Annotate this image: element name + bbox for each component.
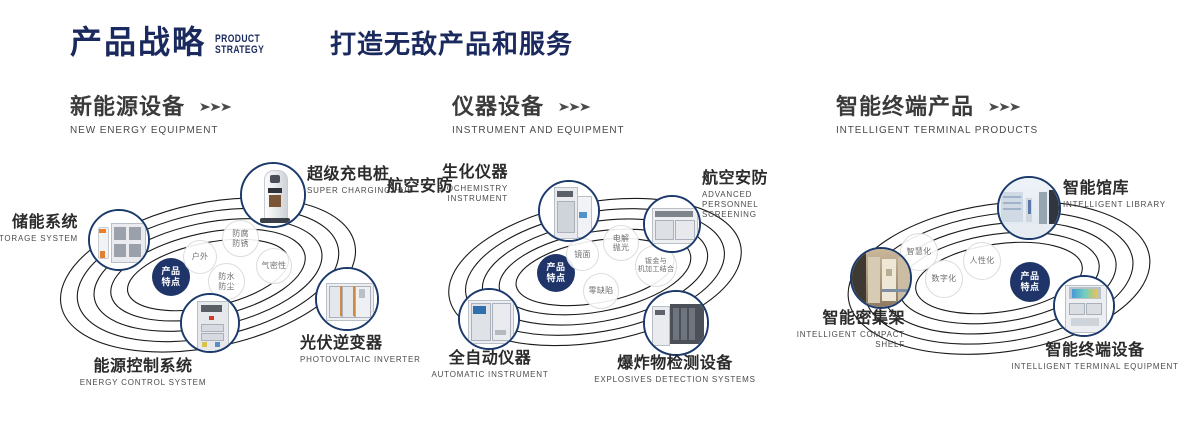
product-label-en: INTELLIGENT LIBRARY (1063, 200, 1166, 210)
product-label-en: ENERGY CONTROL SYSTEM (38, 378, 248, 388)
product-label-terminal-equipment: 智能终端设备 INTELLIGENT TERMINAL EQUIPMENT (995, 342, 1195, 372)
section-title-en: INSTRUMENT AND EQUIPMENT (452, 125, 625, 136)
feature-bubble: 数字化 (925, 260, 963, 298)
product-label-cn: 智能密集架 (765, 310, 905, 327)
product-label-cn: 航空安防 (348, 178, 453, 195)
core-bubble-line2: 特点 (1020, 282, 1039, 293)
chevron-right-icon: ➤➤➤ (198, 99, 230, 114)
feature-bubble: 人性化 (963, 242, 1001, 280)
feature-bubble-text: 防水防尘 (218, 272, 235, 291)
product-node-pv-inverter[interactable] (315, 267, 379, 331)
core-bubble-line2: 特点 (546, 273, 565, 284)
product-node-explosives-detection[interactable] (643, 290, 709, 356)
feature-bubble-text: 数字化 (932, 274, 957, 284)
product-label-aviation-security-left: 航空安防 (348, 178, 453, 195)
core-bubble-line2: 特点 (161, 277, 180, 288)
biochemistry-illustration (540, 182, 598, 240)
product-label-aviation-security: 航空安防 ADVANCED PERSONNEL SCREENING (702, 170, 802, 220)
product-label-cn: 航空安防 (702, 170, 802, 187)
product-label-explosives-detection: 爆炸物检测设备 EXPLOSIVES DETECTION SYSTEMS (575, 355, 775, 385)
pv-inverter-illustration (317, 269, 377, 329)
diagram-panel-intelligent-terminal: 智能馆库 INTELLIGENT LIBRARY 智能密集架 INTELLIGE… (795, 150, 1195, 410)
section-title-cn: 新能源设备 (70, 96, 185, 118)
section-title-cn: 仪器设备 (452, 96, 544, 118)
core-bubble-line1: 产品 (161, 266, 180, 277)
feature-bubble-text: 电解抛光 (613, 234, 630, 253)
poster-title-en: PRODUCT STRATEGY (215, 34, 309, 56)
product-label-energy-control: 能源控制系统 ENERGY CONTROL SYSTEM (38, 358, 248, 388)
section-title-new-energy: 新能源设备 ➤➤➤ NEW ENERGY EQUIPMENT (70, 96, 230, 136)
product-label-cn: 储能系统 (0, 214, 78, 231)
feature-bubble-text: 零缺陷 (589, 286, 614, 296)
product-node-intelligent-library[interactable] (997, 176, 1061, 240)
chevron-right-icon: ➤➤➤ (987, 99, 1019, 114)
feature-bubble: 电解抛光 (603, 225, 639, 261)
intelligent-library-illustration (999, 178, 1059, 238)
product-node-energy-control[interactable] (180, 293, 240, 353)
poster-canvas: 产品战略 PRODUCT STRATEGY 打造无敌产品和服务 新能源设备 ➤➤… (0, 0, 1200, 422)
energy-control-illustration (182, 295, 238, 351)
product-label-en: ADVANCED PERSONNEL SCREENING (702, 190, 802, 220)
product-label-cn: 爆炸物检测设备 (575, 355, 775, 372)
product-label-en: ENERGY STORAGE SYSTEM (0, 234, 78, 244)
feature-bubble-text: 智慧化 (907, 247, 932, 257)
feature-bubble-text: 气密性 (262, 261, 287, 271)
feature-bubble-text: 钣金与机加工结合 (638, 258, 675, 275)
poster-header: 产品战略 PRODUCT STRATEGY (70, 26, 335, 58)
energy-storage-illustration (90, 211, 148, 269)
core-bubble-line1: 产品 (546, 262, 565, 273)
poster-title-en-line2: STRATEGY (215, 45, 309, 56)
feature-bubble-text: 镜面 (574, 250, 591, 260)
poster-subtitle: 打造无敌产品和服务 (330, 31, 573, 57)
poster-title-cn: 产品战略 (70, 26, 206, 58)
section-title-en: NEW ENERGY EQUIPMENT (70, 125, 230, 136)
product-label-en: AUTOMATIC INSTRUMENT (395, 370, 585, 380)
feature-bubble: 镜面 (566, 238, 599, 271)
product-node-charging-hub[interactable] (240, 162, 306, 228)
product-node-aviation-security[interactable] (643, 195, 701, 253)
product-label-compact-shelf: 智能密集架 INTELLIGENT COMPACT SHELF (765, 310, 905, 350)
product-node-terminal-equipment[interactable] (1053, 275, 1115, 337)
diagram-panel-instrument: 生化仪器 BIOCHEMISTRY INSTRUMENT 航空安防 航空安防 A… (390, 150, 790, 410)
core-bubble-product-features: 产品 特点 (1010, 262, 1050, 302)
terminal-equipment-illustration (1055, 277, 1113, 335)
section-title-intelligent-terminal: 智能终端产品 ➤➤➤ INTELLIGENT TERMINAL PRODUCTS (836, 96, 1038, 136)
feature-bubble: 零缺陷 (583, 273, 619, 309)
compact-shelf-illustration (852, 249, 910, 307)
product-node-compact-shelf[interactable] (850, 247, 912, 309)
product-label-en: INTELLIGENT COMPACT SHELF (765, 330, 905, 350)
section-title-instrument: 仪器设备 ➤➤➤ INSTRUMENT AND EQUIPMENT (452, 96, 625, 136)
diagram-panel-new-energy: 储能系统 ENERGY STORAGE SYSTEM 超级充电桩 SUPER C… (0, 150, 400, 410)
product-label-cn: 能源控制系统 (38, 358, 248, 375)
section-title-cn: 智能终端产品 (836, 96, 974, 118)
section-title-en: INTELLIGENT TERMINAL PRODUCTS (836, 125, 1038, 136)
automatic-instrument-illustration (460, 290, 518, 348)
feature-bubble: 气密性 (256, 248, 292, 284)
product-label-energy-storage: 储能系统 ENERGY STORAGE SYSTEM (0, 214, 78, 244)
product-label-cn: 智能馆库 (1063, 180, 1166, 197)
charging-hub-illustration (242, 164, 304, 226)
product-label-cn: 全自动仪器 (395, 350, 585, 367)
product-node-biochemistry[interactable] (538, 180, 600, 242)
feature-bubble-text: 户外 (192, 252, 209, 262)
product-label-en: EXPLOSIVES DETECTION SYSTEMS (575, 375, 775, 385)
aviation-security-illustration (645, 197, 699, 251)
feature-bubble-text: 人性化 (970, 256, 995, 266)
explosives-detection-illustration (645, 292, 707, 354)
feature-bubble-text: 防腐防锈 (232, 229, 249, 248)
product-label-automatic-instrument: 全自动仪器 AUTOMATIC INSTRUMENT (395, 350, 585, 380)
product-node-automatic-instrument[interactable] (458, 288, 520, 350)
product-label-en: INTELLIGENT TERMINAL EQUIPMENT (995, 362, 1195, 372)
chevron-right-icon: ➤➤➤ (557, 99, 589, 114)
product-node-energy-storage[interactable] (88, 209, 150, 271)
product-label-intelligent-library: 智能馆库 INTELLIGENT LIBRARY (1063, 180, 1166, 210)
product-label-cn: 智能终端设备 (995, 342, 1195, 359)
core-bubble-line1: 产品 (1020, 271, 1039, 282)
